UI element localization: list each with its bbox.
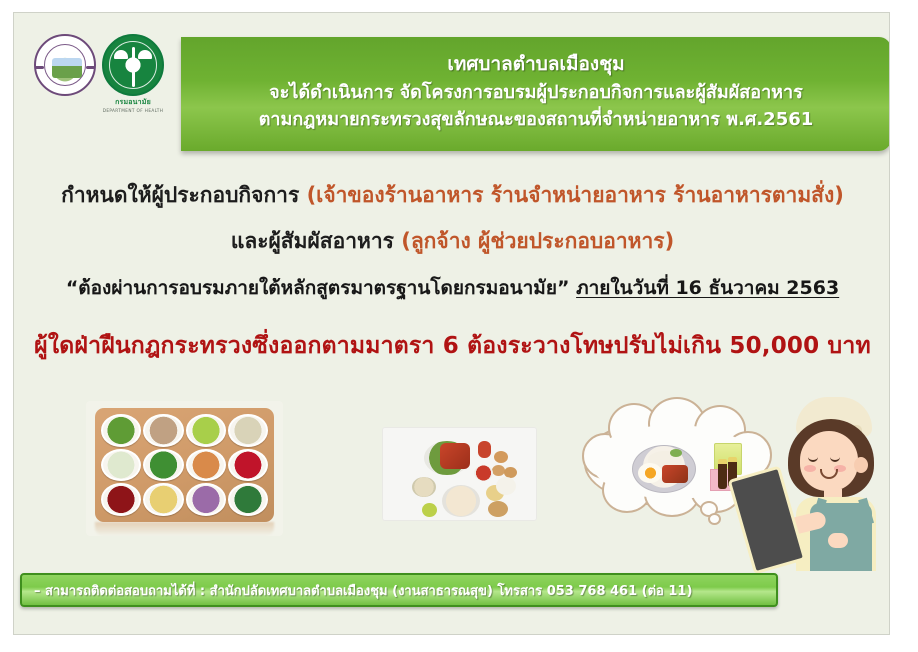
cutting-board [95,408,274,522]
municipality-seal-icon [34,34,96,96]
body-line-1-orange: (เจ้าของร้านอาหาร ร้านจำหน่ายอาหาร ร้านอ… [307,183,844,207]
banner-line-1: เทศบาลตำบลเมืองชุม [447,51,624,79]
department-of-health-logo: กรมอนามัย DEPARTMENT OF HEALTH [102,34,164,113]
poster-canvas: กรมอนามัย DEPARTMENT OF HEALTH เทศบาลตำบ… [13,12,890,635]
deadline-date: ภายในวันที่ 16 ธันวาคม 2563 [576,277,839,299]
penalty-notice: ผู้ใดฝ่าฝืนกฎกระทรวงซึ่งออกตามมาตรา 6 ต้… [14,331,890,362]
image-row [14,401,890,571]
body-line-3: “ต้องผ่านการอบรมภายใต้หลักสูตรมาตรฐานโดย… [14,276,890,302]
contact-footer-bar: – สามารถติดต่อสอบถามได้ที่ : สำนักปลัดเท… [20,573,778,607]
ingredients-board-photo [86,401,283,536]
body-line-3-quote: “ต้องผ่านการอบรมภายใต้หลักสูตรมาตรฐานโดย… [66,277,576,299]
body-line-1: กำหนดให้ผู้ประกอบกิจการ (เจ้าของร้านอาหา… [14,181,890,209]
body-line-1-black: กำหนดให้ผู้ประกอบกิจการ [61,183,306,207]
banner-line-2: จะได้ดำเนินการ จัดโครงการอบรมผู้ประกอบกิ… [269,79,803,106]
body-line-2-black: และผู้สัมผัสอาหาร [231,229,401,253]
chef-character-illustration [766,395,890,571]
banner-line-3: ตามกฎหมายกระทรวงสุขลักษณะของสถานที่จำหน่… [259,106,814,133]
department-of-health-seal-icon [102,34,164,96]
header-banner: เทศบาลตำบลเมืองชุม จะได้ดำเนินการ จัดโคร… [181,37,890,151]
contact-text: – สามารถติดต่อสอบถามได้ที่ : สำนักปลัดเท… [34,580,692,601]
body-line-2-orange: (ลูกจ้าง ผู้ช่วยประกอบอาหาร) [401,229,674,253]
logo-group: กรมอนามัย DEPARTMENT OF HEALTH [34,34,164,113]
body-text-block: กำหนดให้ผู้ประกอบกิจการ (เจ้าของร้านอาหา… [14,181,890,362]
ingredients-flatlay-photo [382,427,537,521]
body-line-2: และผู้สัมผัสอาหาร (ลูกจ้าง ผู้ช่วยประกอบ… [14,227,890,255]
doh-caption-th: กรมอนามัย [115,97,151,108]
doh-caption-en: DEPARTMENT OF HEALTH [103,108,164,113]
